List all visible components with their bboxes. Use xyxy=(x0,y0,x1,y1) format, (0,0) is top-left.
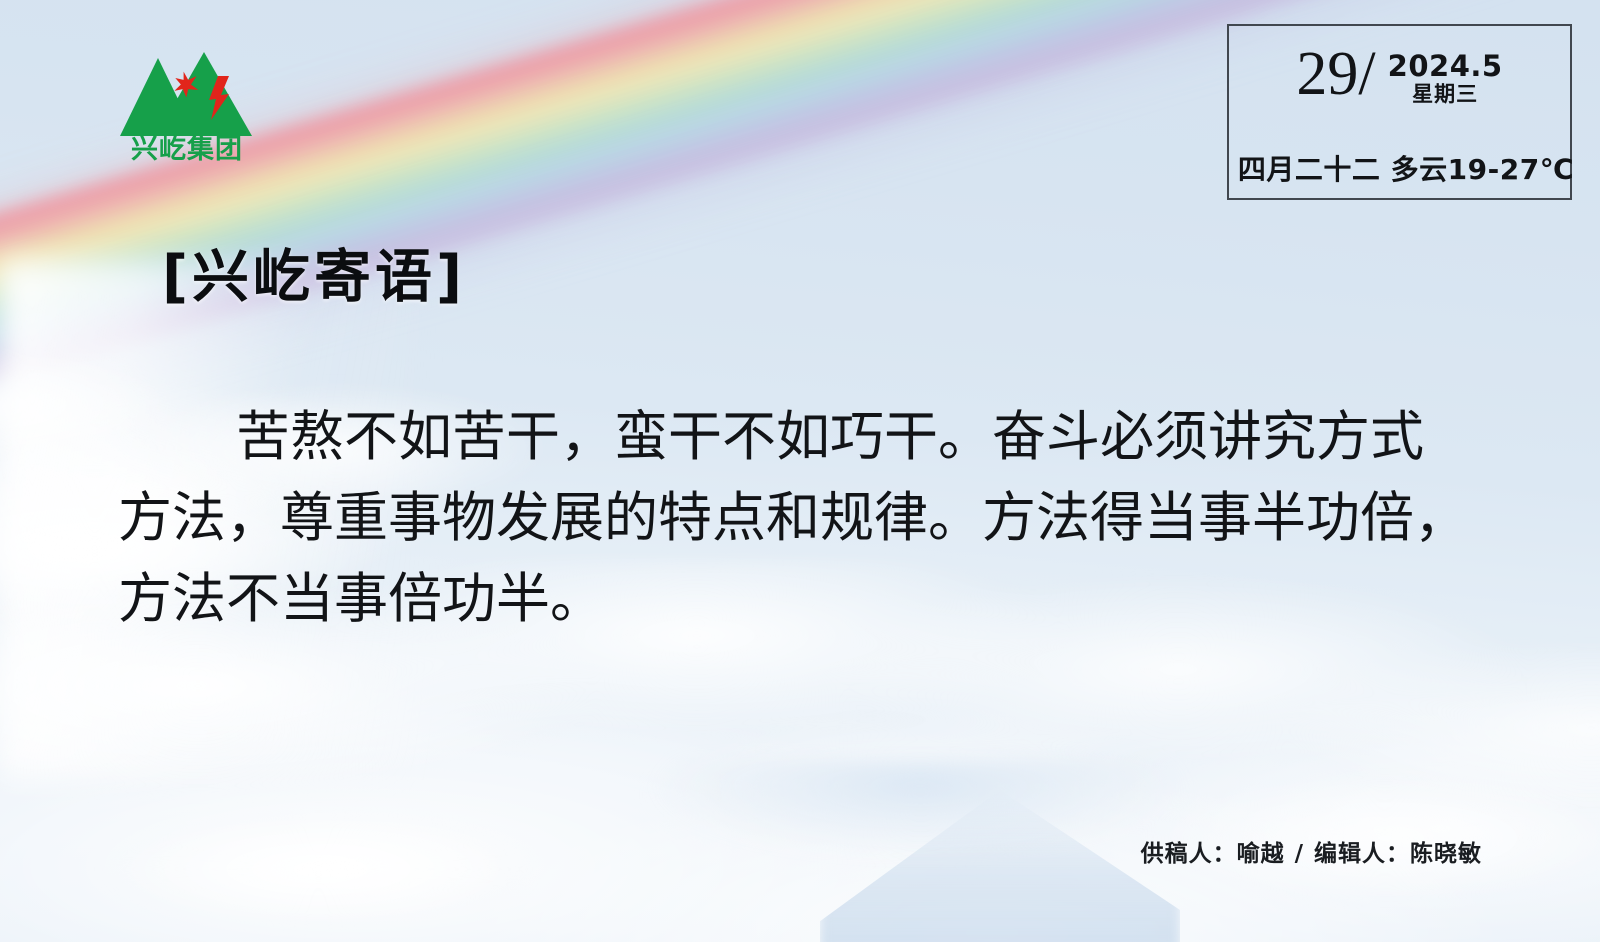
date-weekday: 星期三 xyxy=(1412,82,1478,107)
date-card-right-column: 2024.5 星期三 xyxy=(1388,46,1503,108)
contributor-label: 供稿人： xyxy=(1141,841,1237,867)
editor-label: 编辑人： xyxy=(1314,841,1410,867)
quote-line-1: 苦熬不如苦干，蛮干不如巧干。奋斗必须讲究方式 xyxy=(118,396,1486,477)
mountain-star-bolt-icon xyxy=(112,48,262,140)
date-day-number: 29/ xyxy=(1296,46,1375,103)
date-card-top-row: 29/ 2024.5 星期三 xyxy=(1229,46,1570,108)
date-card: 29/ 2024.5 星期三 四月二十二 多云19-27℃ xyxy=(1227,24,1572,200)
editor-name: 陈晓敏 xyxy=(1410,841,1482,867)
date-year-month: 2024.5 xyxy=(1388,50,1503,82)
page-title: [兴屹寄语] xyxy=(162,246,466,309)
credits-line: 供稿人：喻越/编辑人：陈晓敏 xyxy=(1141,834,1482,868)
credits-separator: / xyxy=(1295,841,1304,867)
quote-line-3: 方法不当事倍功半。 xyxy=(118,558,1486,639)
quote-line-2: 方法，尊重事物发展的特点和规律。方法得当事半功倍， xyxy=(118,477,1486,558)
lunar-and-weather: 四月二十二 多云19-27℃ xyxy=(1221,148,1591,188)
poster-canvas: 兴屹集团 29/ 2024.5 星期三 四月二十二 多云19-27℃ [兴屹寄语… xyxy=(0,0,1600,942)
brand-name: 兴屹集团 xyxy=(112,136,262,163)
contributor-name: 喻越 xyxy=(1237,841,1285,867)
quote-body: 苦熬不如苦干，蛮干不如巧干。奋斗必须讲究方式 方法，尊重事物发展的特点和规律。方… xyxy=(118,396,1486,639)
brand-logo: 兴屹集团 xyxy=(112,48,262,168)
cloud-peak-shape xyxy=(820,790,1180,942)
